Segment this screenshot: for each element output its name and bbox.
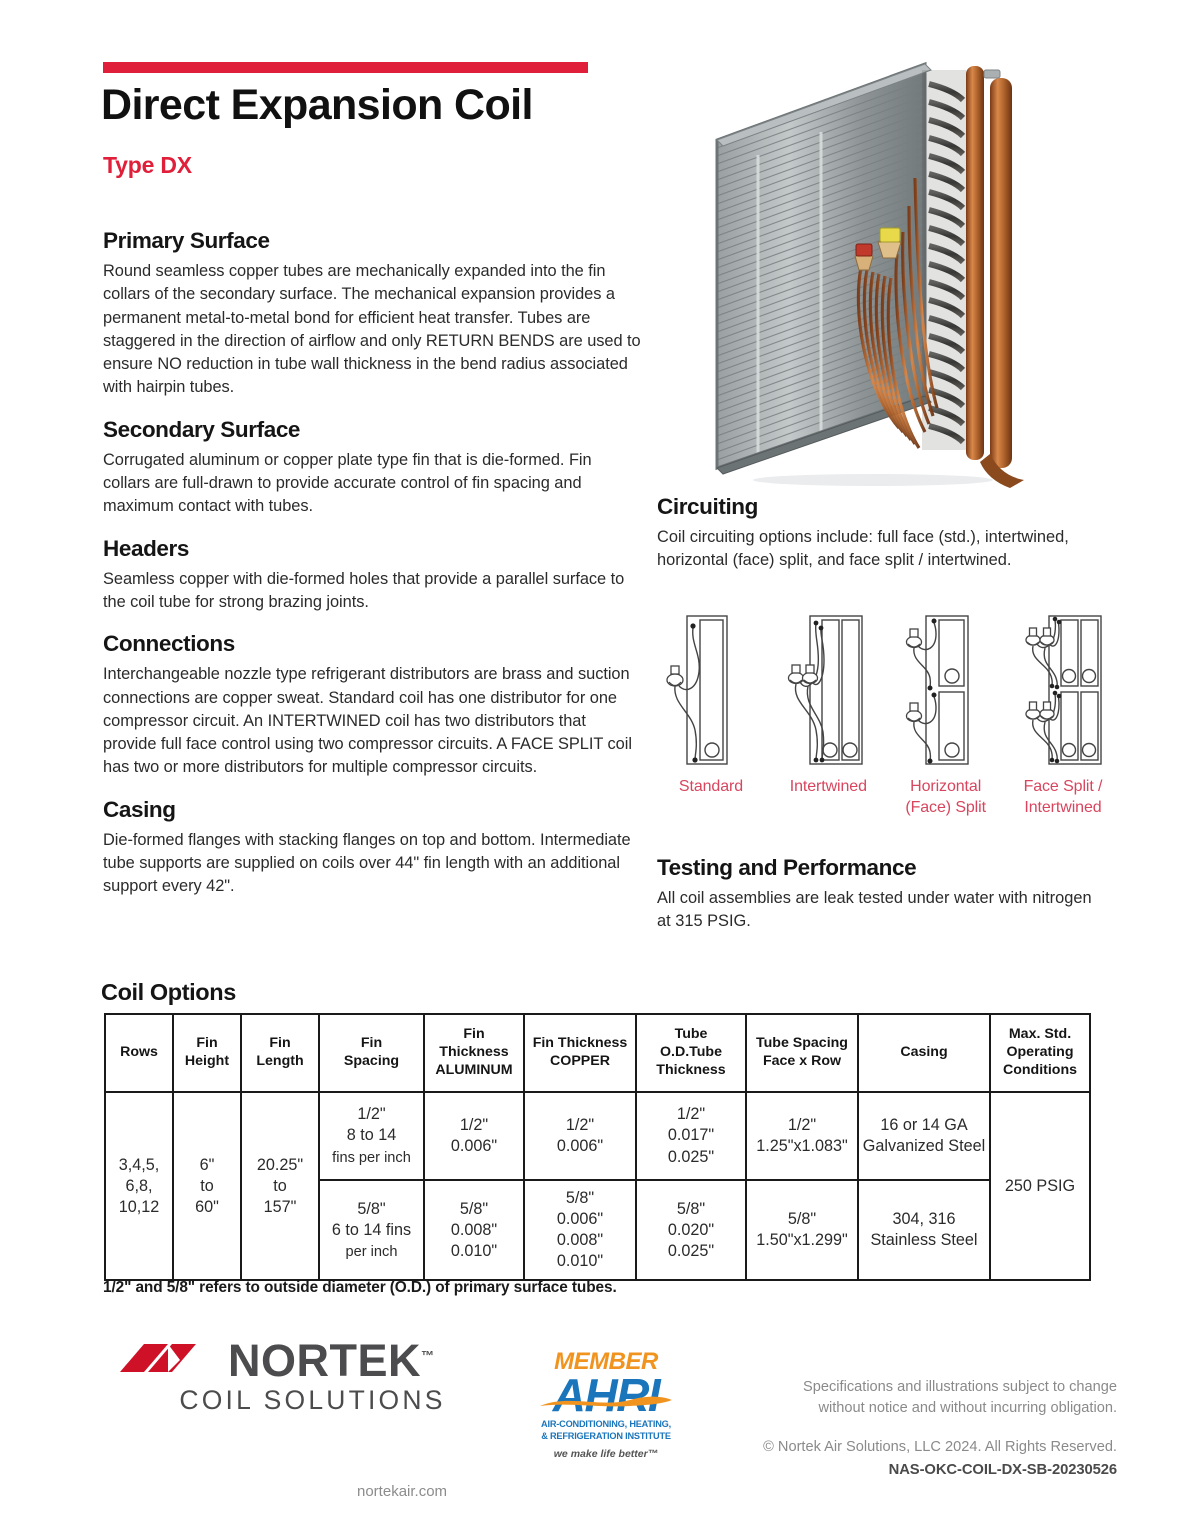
cell-line: 6,8, <box>125 1177 152 1195</box>
cell-line: 304, 316 <box>892 1210 955 1228</box>
nortek-chevron-icon <box>120 1342 220 1380</box>
header-line: Tube <box>675 1026 708 1042</box>
cell-line: 60" <box>195 1198 219 1216</box>
circuit-art-intertwined <box>778 608 878 773</box>
circuit-diagram-face-split-intertwined: Face Split / Intertwined <box>1009 608 1117 833</box>
section-heading: Primary Surface <box>103 228 641 254</box>
cell-line: 1/2" <box>566 1116 594 1134</box>
header-line: O.D.Tube <box>660 1044 722 1060</box>
disclaimer-line-1: Specifications and illustrations subject… <box>737 1377 1117 1398</box>
section-connections: Connections Interchangeable nozzle type … <box>103 631 641 779</box>
header-line: Fin <box>463 1026 484 1042</box>
circuit-caption-horizontal-split: Horizontal (Face) Split <box>905 777 986 819</box>
website-link[interactable]: nortekair.com <box>357 1483 447 1500</box>
cell-line: 1/2" <box>460 1116 488 1134</box>
nortek-tagline: COIL SOLUTIONS <box>160 1385 465 1416</box>
circuit-caption-face-split-intertwined: Face Split / Intertwined <box>1024 777 1103 819</box>
caption-line-1: Horizontal <box>910 778 981 795</box>
accent-bar <box>103 62 588 73</box>
section-heading: Secondary Surface <box>103 417 641 443</box>
col-header-fin-spacing: Fin Spacing <box>319 1014 424 1092</box>
left-column: Primary Surface Round seamless copper tu… <box>103 228 641 916</box>
cell-line: Stainless Steel <box>870 1231 977 1249</box>
col-header-fin-thickness-copper: Fin Thickness COPPER <box>524 1014 636 1092</box>
header-line: COPPER <box>550 1053 610 1069</box>
table-header-row: Rows Fin Height Fin Length Fin Spacing F… <box>105 1014 1090 1092</box>
cell-line: 5/8" <box>357 1200 385 1218</box>
section-headers: Headers Seamless copper with die-formed … <box>103 536 641 615</box>
header-line: Spacing <box>344 1053 399 1069</box>
page-subtitle: Type DX <box>103 152 192 179</box>
section-body: All coil assemblies are leak tested unde… <box>657 887 1097 934</box>
cell-line: 0.017" <box>668 1126 714 1144</box>
section-testing-performance: Testing and Performance All coil assembl… <box>657 855 1097 934</box>
cell-line: 5/8" <box>460 1200 488 1218</box>
cell-line: to <box>200 1177 214 1195</box>
header-line: Fin <box>361 1035 382 1051</box>
page-title: Direct Expansion Coil <box>101 83 533 128</box>
cell-line: 5/8" <box>566 1189 594 1207</box>
section-body: Round seamless copper tubes are mechanic… <box>103 260 641 400</box>
logo-text: NORTEK <box>228 1335 421 1386</box>
cell-line: 0.020" <box>668 1221 714 1239</box>
cell-line: 3,4,5, <box>119 1156 160 1174</box>
cell-fin-spacing-b: 5/8" 6 to 14 fins per inch <box>319 1180 424 1280</box>
copyright-notice: © Nortek Air Solutions, LLC 2024. All Ri… <box>737 1437 1117 1458</box>
caption-line-2: (Face) Split <box>905 799 986 816</box>
product-photo <box>703 56 1075 496</box>
circuiting-diagrams: Standard <box>657 608 1117 833</box>
col-header-rows: Rows <box>105 1014 173 1092</box>
cell-line: 0.006" <box>451 1137 497 1155</box>
cell-line: 0.010" <box>557 1252 603 1270</box>
col-header-tube-od-thickness: Tube O.D.Tube Thickness <box>636 1014 746 1092</box>
cell-line: 10,12 <box>119 1198 160 1216</box>
section-heading: Headers <box>103 536 641 562</box>
datasheet-page: Direct Expansion Coil Type DX <box>0 0 1187 1536</box>
cell-line: 0.025" <box>668 1242 714 1260</box>
cell-fin-height: 6" to 60" <box>173 1092 241 1280</box>
cell-line: 5/8" <box>677 1200 705 1218</box>
table-footnote: 1/2" and 5/8" refers to outside diameter… <box>103 1279 617 1297</box>
cell-line: to <box>273 1177 287 1195</box>
section-heading: Connections <box>103 631 641 657</box>
cell-line: 6 to 14 fins <box>332 1221 411 1239</box>
header-line: Thickness <box>439 1044 508 1060</box>
cell-fin-thickness-aluminum-b: 5/8" 0.008" 0.010" <box>424 1180 524 1280</box>
ahri-swoosh-icon <box>538 1392 674 1410</box>
col-header-fin-thickness-aluminum: Fin Thickness ALUMINUM <box>424 1014 524 1092</box>
cell-fin-thickness-copper-a: 1/2" 0.006" <box>524 1092 636 1180</box>
cell-fin-length: 20.25" to 157" <box>241 1092 319 1280</box>
section-body: Corrugated aluminum or copper plate type… <box>103 449 641 519</box>
caption-line-2: Intertwined <box>1024 799 1101 816</box>
cell-fin-thickness-copper-b: 5/8" 0.006" 0.008" 0.010" <box>524 1180 636 1280</box>
section-casing: Casing Die-formed flanges with stacking … <box>103 797 641 899</box>
cell-casing-a: 16 or 14 GA Galvanized Steel <box>858 1092 990 1180</box>
cell-line: 0.008" <box>451 1221 497 1239</box>
caption-line-1: Face Split / <box>1024 778 1103 795</box>
circuit-caption-intertwined: Intertwined <box>790 777 867 798</box>
header-line: ALUMINUM <box>435 1062 512 1078</box>
col-header-max-operating: Max. Std. Operating Conditions <box>990 1014 1090 1092</box>
cell-line: 0.006" <box>557 1210 603 1228</box>
section-primary-surface: Primary Surface Round seamless copper tu… <box>103 228 641 400</box>
cell-line: Galvanized Steel <box>863 1137 985 1155</box>
header-line: Thickness <box>656 1062 725 1078</box>
section-body: Interchangeable nozzle type refrigerant … <box>103 663 641 779</box>
disclaimer-line-2: without notice and without incurring obl… <box>737 1398 1117 1419</box>
header-line: Conditions <box>1003 1062 1077 1078</box>
cell-line: 1/2" <box>677 1105 705 1123</box>
cell-line: 20.25" <box>257 1156 303 1174</box>
cell-tube-spacing-a: 1/2" 1.25"x1.083" <box>746 1092 858 1180</box>
header-line: Tube Spacing <box>756 1035 848 1051</box>
circuit-art-standard <box>661 608 761 773</box>
circuit-diagram-horizontal-split: Horizontal (Face) Split <box>892 608 1000 833</box>
cell-line: fins per inch <box>332 1150 411 1166</box>
cell-line: 0.008" <box>557 1231 603 1249</box>
circuit-art-horizontal-split <box>896 608 996 773</box>
cell-line: 1.25"x1.083" <box>756 1137 848 1155</box>
legal-footer: Specifications and illustrations subject… <box>737 1377 1117 1482</box>
col-header-casing: Casing <box>858 1014 990 1092</box>
cell-line: 0.006" <box>557 1137 603 1155</box>
header-line: Rows <box>120 1044 158 1060</box>
section-body: Die-formed flanges with stacking flanges… <box>103 829 641 899</box>
header-line: Fin Thickness <box>533 1035 628 1051</box>
col-header-fin-length: Fin Length <box>241 1014 319 1092</box>
cell-line: 1/2" <box>788 1116 816 1134</box>
cell-tube-od-thickness-a: 1/2" 0.017" 0.025" <box>636 1092 746 1180</box>
cell-fin-thickness-aluminum-a: 1/2" 0.006" <box>424 1092 524 1180</box>
header-line: Face x Row <box>763 1053 841 1069</box>
cell-line: 8 to 14 <box>347 1126 397 1144</box>
header-line: Operating <box>1006 1044 1073 1060</box>
circuit-caption-standard: Standard <box>679 777 743 798</box>
header-line: Length <box>256 1053 303 1069</box>
cell-max-operating: 250 PSIG <box>990 1092 1090 1280</box>
cell-line: 0.010" <box>451 1242 497 1260</box>
cell-line: 16 or 14 GA <box>880 1116 967 1134</box>
circuit-art-face-split-intertwined <box>1013 608 1113 773</box>
section-heading: Casing <box>103 797 641 823</box>
coil-options-table: Rows Fin Height Fin Length Fin Spacing F… <box>104 1013 1091 1281</box>
table-row: 3,4,5, 6,8, 10,12 6" to 60" 20.25" to 15… <box>105 1092 1090 1180</box>
document-code: NAS-OKC-COIL-DX-SB-20230526 <box>737 1460 1117 1481</box>
section-circuiting: Circuiting Coil circuiting options inclu… <box>657 494 1112 573</box>
col-header-fin-height: Fin Height <box>173 1014 241 1092</box>
cell-tube-od-thickness-b: 5/8" 0.020" 0.025" <box>636 1180 746 1280</box>
cell-casing-b: 304, 316 Stainless Steel <box>858 1180 990 1280</box>
cell-fin-spacing-a: 1/2" 8 to 14 fins per inch <box>319 1092 424 1180</box>
cell-line: 157" <box>264 1198 297 1216</box>
circuit-diagram-intertwined: Intertwined <box>774 608 882 833</box>
cell-line: per inch <box>346 1244 398 1260</box>
section-secondary-surface: Secondary Surface Corrugated aluminum or… <box>103 417 641 519</box>
coil-options-title: Coil Options <box>101 979 236 1006</box>
ahri-member-badge: MEMBER AHRI AIR-CONDITIONING, HEATING, &… <box>536 1350 676 1460</box>
nortek-logo: NORTEK™ COIL SOLUTIONS <box>120 1338 465 1416</box>
cell-rows: 3,4,5, 6,8, 10,12 <box>105 1092 173 1280</box>
section-body: Seamless copper with die-formed holes th… <box>103 568 641 615</box>
trademark-symbol: ™ <box>421 1348 434 1363</box>
cell-tube-spacing-b: 5/8" 1.50"x1.299" <box>746 1180 858 1280</box>
section-heading: Circuiting <box>657 494 1112 520</box>
col-header-tube-spacing: Tube Spacing Face x Row <box>746 1014 858 1092</box>
section-body: Coil circuiting options include: full fa… <box>657 526 1112 573</box>
header-line: Fin <box>269 1035 290 1051</box>
cell-line: 1/2" <box>357 1105 385 1123</box>
ahri-tagline: we make life better™ <box>536 1448 676 1460</box>
section-heading: Testing and Performance <box>657 855 1097 881</box>
ahri-institute-line-2: & REFRIGERATION INSTITUTE <box>536 1430 676 1442</box>
header-line: Max. Std. <box>1009 1026 1071 1042</box>
header-line: Casing <box>900 1044 947 1060</box>
cell-line: 5/8" <box>788 1210 816 1228</box>
cell-line: 6" <box>200 1156 215 1174</box>
circuit-diagram-standard: Standard <box>657 608 765 833</box>
cell-line: 0.025" <box>668 1148 714 1166</box>
nortek-wordmark: NORTEK™ <box>228 1338 434 1383</box>
header-line: Fin <box>196 1035 217 1051</box>
cell-line: 1.50"x1.299" <box>756 1231 848 1249</box>
header-line: Height <box>185 1053 229 1069</box>
